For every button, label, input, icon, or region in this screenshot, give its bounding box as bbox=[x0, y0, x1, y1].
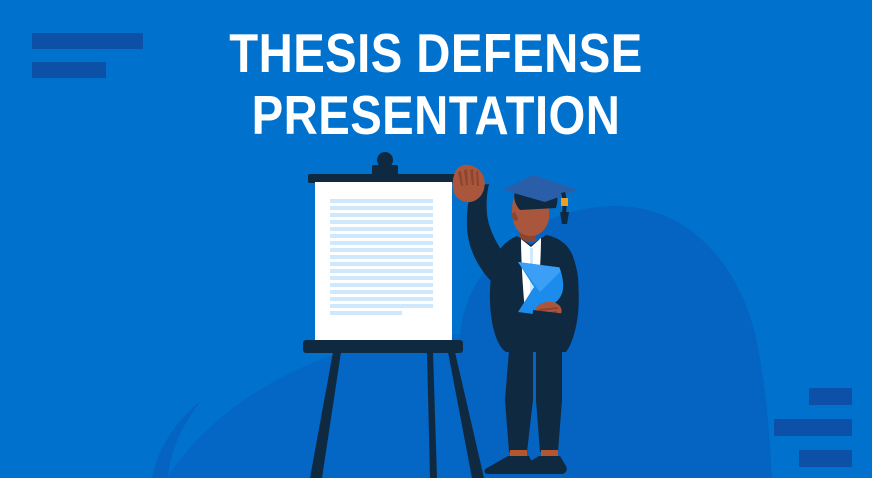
cap-tassel-knot bbox=[561, 198, 568, 206]
flipchart-text-line bbox=[330, 234, 433, 238]
easel-leg-center bbox=[427, 352, 437, 478]
person-leg-left bbox=[505, 350, 533, 452]
flipchart-top-rail bbox=[308, 174, 456, 183]
person-leg-right bbox=[536, 350, 562, 452]
slide-canvas: THESIS DEFENSE PRESENTATION bbox=[0, 0, 872, 478]
flipchart-text-line bbox=[330, 199, 433, 203]
person-hand-raised bbox=[453, 165, 485, 202]
flipchart-text-line bbox=[330, 220, 433, 224]
slide-title-line-2: PRESENTATION bbox=[61, 84, 811, 146]
flipchart-text-line bbox=[330, 297, 433, 301]
cap-tassel bbox=[560, 212, 569, 224]
flipchart-text-line bbox=[330, 262, 433, 266]
flipchart-text-line bbox=[330, 283, 433, 287]
slide-title-line-1: THESIS DEFENSE bbox=[61, 22, 811, 84]
flipchart-text-line bbox=[330, 206, 433, 210]
easel-leg-right bbox=[448, 352, 484, 478]
flipchart-text-line-short bbox=[330, 311, 402, 315]
flipchart-text-lines bbox=[330, 199, 433, 315]
flipchart-text-line bbox=[330, 255, 433, 259]
flipchart-tray bbox=[303, 340, 463, 353]
flipchart-text-line bbox=[330, 269, 433, 273]
flipchart-text-line bbox=[330, 241, 433, 245]
flipchart-text-line bbox=[330, 290, 433, 294]
flipchart-text-line bbox=[330, 276, 433, 280]
flipchart-paper bbox=[315, 182, 452, 340]
slide-title: THESIS DEFENSE PRESENTATION bbox=[0, 22, 872, 146]
easel-legs bbox=[310, 352, 484, 478]
flipchart-text-line bbox=[330, 248, 433, 252]
flipchart-text-line bbox=[330, 213, 433, 217]
flipchart bbox=[303, 152, 463, 353]
easel-leg-left bbox=[310, 352, 341, 478]
flipchart-text-line bbox=[330, 304, 433, 308]
flipchart-text-line bbox=[330, 227, 433, 231]
